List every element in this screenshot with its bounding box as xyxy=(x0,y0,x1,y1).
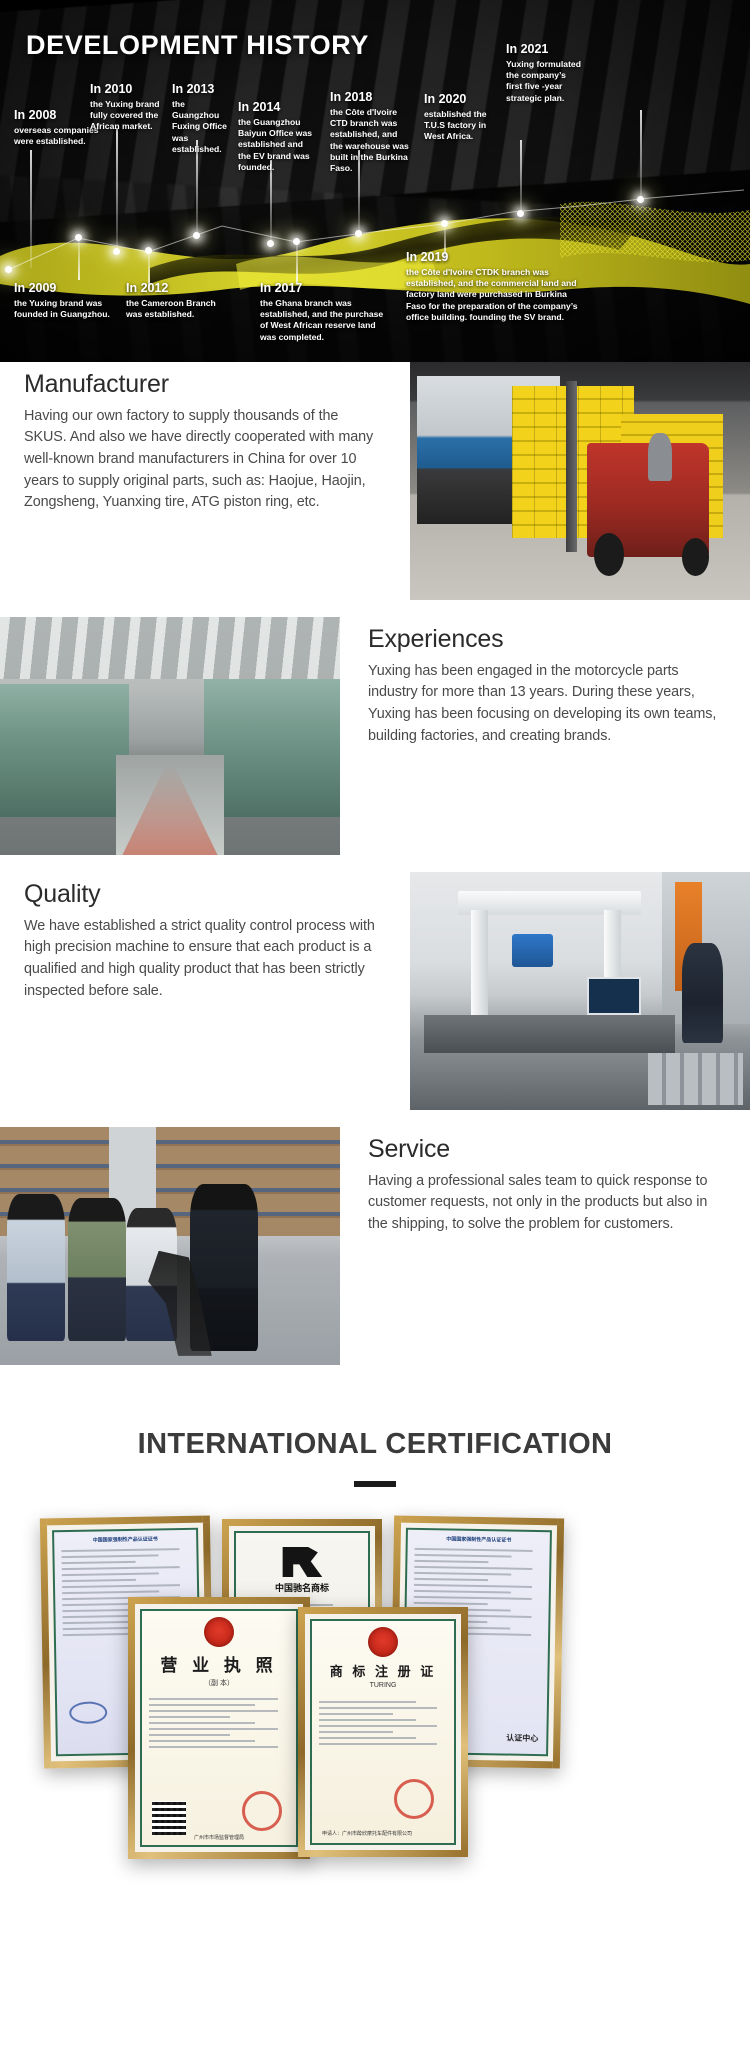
timeline-node-2017 xyxy=(293,238,300,245)
milestone-description: the Ghana branch was established, and th… xyxy=(260,298,390,343)
milestone-2009: In 2009 the Yuxing brand was founded in … xyxy=(14,281,114,320)
feature-title: Manufacturer xyxy=(24,370,382,399)
milestone-2019: In 2019 the Côte d'Ivoire CTDK branch wa… xyxy=(406,250,588,323)
feature-manufacturer: Manufacturer Having our own factory to s… xyxy=(0,362,750,617)
milestone-year: In 2019 xyxy=(406,250,588,266)
milestone-description: established the T.U.S factory in West Af… xyxy=(424,109,508,143)
timeline-node-2014 xyxy=(267,240,274,247)
milestone-description: the Guangzhou Fuxing Office was establis… xyxy=(172,99,234,156)
milestone-description: the Yuxing brand fully covered the Afric… xyxy=(90,99,168,133)
milestone-2013: In 2013 the Guangzhou Fuxing Office was … xyxy=(172,82,234,155)
certificates-gallery: 中国国家强制性产品认证证书 中国质量 中国驰名商标 双狮链传动商品 xyxy=(0,1509,750,1879)
milestone-2018: In 2018 the Côte d'Ivoire CTD branch was… xyxy=(330,90,410,175)
milestone-year: In 2020 xyxy=(424,92,508,108)
certificate-label: 中国国家强制性产品认证证书 xyxy=(408,1535,550,1544)
feature-service: Service Having a professional sales team… xyxy=(0,1127,750,1382)
milestone-description: the Guangzhou Baiyun Office was establis… xyxy=(238,117,316,174)
official-red-stamp xyxy=(394,1779,434,1819)
timeline-stem-2017 xyxy=(296,240,298,284)
milestone-2014: In 2014 the Guangzhou Baiyun Office was … xyxy=(238,100,316,173)
qr-code-icon xyxy=(152,1801,186,1835)
milestone-description: the Cameroon Branch was established. xyxy=(126,298,216,321)
milestone-year: In 2021 xyxy=(506,42,584,58)
certificate-footer: 申请人：广州市酔欣摩托车配件有限公司 xyxy=(322,1830,412,1837)
timeline-node-2010 xyxy=(113,248,120,255)
milestone-2021: In 2021 Yuxing formulated the company’s … xyxy=(506,42,584,104)
certification-title-rule xyxy=(354,1481,396,1487)
feature-image-quality xyxy=(410,872,750,1110)
milestone-year: In 2013 xyxy=(172,82,234,98)
milestone-year: In 2017 xyxy=(260,281,390,297)
milestone-description: overseas companies were established. xyxy=(14,125,100,148)
feature-quality: Quality We have established a strict qua… xyxy=(0,872,750,1127)
feature-image-service xyxy=(0,1127,340,1365)
official-red-stamp xyxy=(242,1791,282,1831)
certificate-body-lines xyxy=(149,1698,289,1748)
certificate-label: 商 标 注 册 证 xyxy=(312,1661,454,1680)
certificate-body-lines xyxy=(319,1701,447,1745)
timeline-stem-2009 xyxy=(78,238,80,280)
timeline-stem-2020 xyxy=(520,140,522,214)
feature-experiences: Experiences Yuxing has been engaged in t… xyxy=(0,617,750,872)
feature-title: Service xyxy=(368,1135,726,1164)
timeline-stem-2010 xyxy=(116,128,118,252)
timeline-node-2013 xyxy=(193,232,200,239)
national-emblem-icon xyxy=(368,1627,398,1657)
timeline-node-2012 xyxy=(145,247,152,254)
certification-title: INTERNATIONAL CERTIFICATION xyxy=(0,1428,750,1461)
milestone-year: In 2008 xyxy=(14,108,100,124)
timeline-node-2018 xyxy=(355,230,362,237)
timeline-stem-2008 xyxy=(30,150,32,268)
milestone-description: the Côte d'Ivoire CTD branch was establi… xyxy=(330,107,410,175)
milestone-description: Yuxing formulated the company’s first fi… xyxy=(506,59,584,104)
cqc-logo xyxy=(69,1701,107,1724)
feature-image-experiences xyxy=(0,617,340,855)
timeline-node-2020 xyxy=(517,210,524,217)
milestone-2010: In 2010 the Yuxing brand fully covered t… xyxy=(90,82,168,133)
timeline-stem-2021 xyxy=(640,110,642,200)
milestone-2020: In 2020 established the T.U.S factory in… xyxy=(424,92,508,143)
certificate-label: 营 业 执 照 xyxy=(142,1651,296,1676)
certificate-label: 中国驰名商标 xyxy=(236,1581,368,1594)
feature-body: We have established a strict quality con… xyxy=(24,916,382,1002)
milestone-2017: In 2017 the Ghana branch was established… xyxy=(260,281,390,343)
milestone-year: In 2014 xyxy=(238,100,316,116)
international-certification-section: INTERNATIONAL CERTIFICATION 中国国家强制性产品认证证… xyxy=(0,1382,750,1879)
development-history-banner: DEVELOPMENT HISTORY xyxy=(0,0,750,362)
certificate-footer: 广州市市场监督管理局 xyxy=(194,1834,244,1841)
milestone-description: the Yuxing brand was founded in Guangzho… xyxy=(14,298,114,321)
feature-title: Quality xyxy=(24,880,382,909)
feature-title: Experiences xyxy=(368,625,726,654)
certificate-label: 中国国家强制性产品认证证书 xyxy=(54,1535,196,1544)
certificate-trademark-registration[interactable]: 商 标 注 册 证 TURING 申请人：广州市酔欣摩托车配件有限公司 xyxy=(298,1607,468,1857)
feature-body: Yuxing has been engaged in the motorcycl… xyxy=(368,661,726,747)
certificate-business-license[interactable]: 营 业 执 照 （副 本） 广州市市场监督管理局 xyxy=(128,1597,310,1859)
certificate-footer: 认证中心 xyxy=(506,1733,538,1745)
milestone-year: In 2018 xyxy=(330,90,410,106)
timeline-node-2008 xyxy=(5,266,12,273)
feature-body: Having a professional sales team to quic… xyxy=(368,1171,726,1236)
milestone-2008: In 2008 overseas companies were establis… xyxy=(14,108,100,147)
timeline-node-2021 xyxy=(637,196,644,203)
feature-image-manufacturer xyxy=(410,362,750,600)
timeline-node-2009 xyxy=(75,234,82,241)
certificate-sublabel: （副 本） xyxy=(142,1678,296,1688)
banner-title: DEVELOPMENT HISTORY xyxy=(26,30,369,61)
milestone-year: In 2010 xyxy=(90,82,168,98)
milestone-year: In 2012 xyxy=(126,281,216,297)
feature-body: Having our own factory to supply thousan… xyxy=(24,406,382,514)
company-features: Manufacturer Having our own factory to s… xyxy=(0,362,750,1382)
milestone-year: In 2009 xyxy=(14,281,114,297)
timeline-node-2019 xyxy=(441,220,448,227)
certificate-sublabel: TURING xyxy=(312,1682,454,1689)
brand-r-logo-icon xyxy=(280,1547,324,1577)
milestone-2012: In 2012 the Cameroon Branch was establis… xyxy=(126,281,216,320)
national-emblem-icon xyxy=(204,1617,234,1647)
milestone-description: the Côte d'Ivoire CTDK branch was establ… xyxy=(406,267,588,324)
